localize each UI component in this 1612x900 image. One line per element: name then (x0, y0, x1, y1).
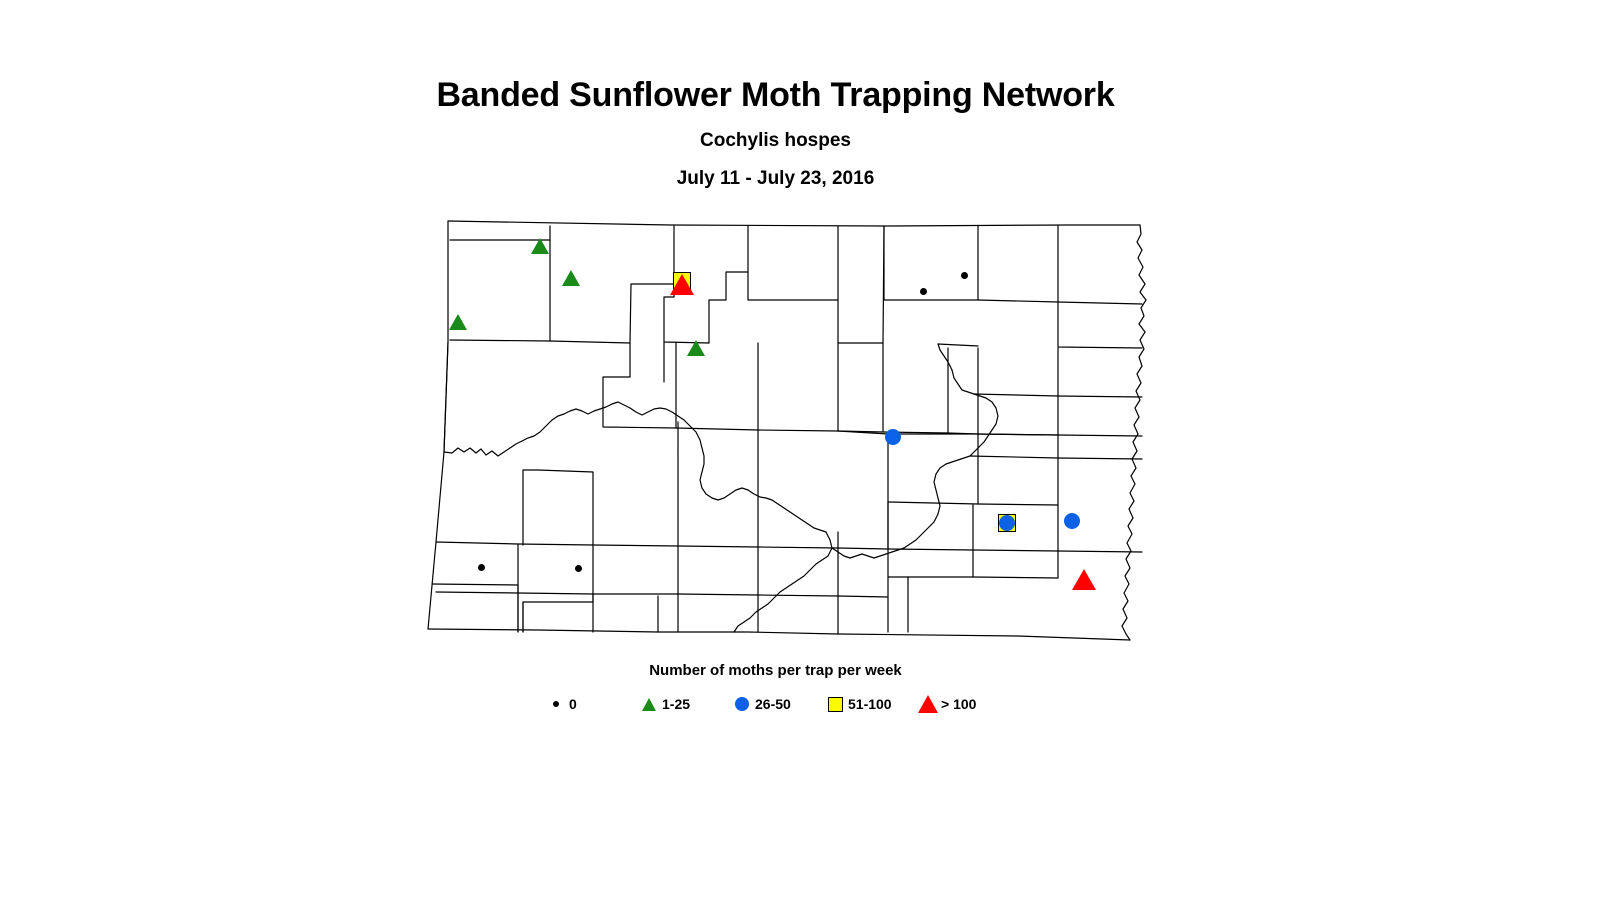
county-boundaries (418, 212, 1158, 657)
trap-marker-blue-circle[interactable] (999, 515, 1015, 531)
north-dakota-map (418, 212, 1158, 657)
trap-marker-red-triangle[interactable] (1072, 569, 1096, 590)
page-title: Banded Sunflower Moth Trapping Network (0, 0, 1551, 114)
title-block: Banded Sunflower Moth Trapping Network C… (0, 0, 1551, 190)
date-range: July 11 - July 23, 2016 (0, 152, 1551, 190)
red-triangle-icon (670, 274, 694, 295)
legend-item-26-50[interactable]: 26-50 (729, 696, 822, 712)
green-triangle-icon (449, 314, 467, 330)
blue-circle-icon (729, 697, 755, 711)
legend-label: 0 (569, 696, 577, 712)
black-dot-icon (543, 701, 569, 707)
map-legend: Number of moths per trap per week 0 1-25… (0, 662, 1551, 713)
trap-marker-red-triangle[interactable] (670, 274, 694, 295)
map-page: Banded Sunflower Moth Trapping Network C… (0, 0, 1612, 900)
black-dot-icon (478, 564, 485, 571)
green-triangle-icon (562, 270, 580, 286)
green-triangle-icon (636, 698, 662, 711)
blue-circle-icon (1064, 513, 1080, 529)
black-dot-icon (961, 272, 968, 279)
trap-marker-green-triangle[interactable] (449, 314, 467, 330)
legend-title: Number of moths per trap per week (0, 662, 1551, 679)
trap-marker-green-triangle[interactable] (687, 340, 705, 356)
legend-label: 51-100 (848, 696, 892, 712)
trap-marker-zero-dot[interactable] (478, 564, 485, 571)
trap-marker-green-triangle[interactable] (562, 270, 580, 286)
trap-marker-green-triangle[interactable] (531, 238, 549, 254)
trap-marker-zero-dot[interactable] (575, 565, 582, 572)
legend-label: 26-50 (755, 696, 791, 712)
black-dot-icon (575, 565, 582, 572)
yellow-square-icon (822, 697, 848, 712)
trap-marker-zero-dot[interactable] (920, 288, 927, 295)
black-dot-icon (920, 288, 927, 295)
species-name: Cochylis hospes (0, 114, 1551, 152)
legend-item-over-100[interactable]: > 100 (915, 695, 1008, 713)
blue-circle-icon (885, 429, 901, 445)
green-triangle-icon (531, 238, 549, 254)
blue-circle-icon (999, 515, 1015, 531)
legend-item-zero[interactable]: 0 (543, 696, 636, 712)
legend-items: 0 1-25 26-50 51-100 (0, 679, 1551, 713)
red-triangle-icon (1072, 569, 1096, 590)
legend-label: > 100 (941, 696, 976, 712)
legend-item-1-25[interactable]: 1-25 (636, 696, 729, 712)
trap-marker-blue-circle[interactable] (1064, 513, 1080, 529)
red-triangle-icon (915, 695, 941, 713)
trap-marker-zero-dot[interactable] (961, 272, 968, 279)
legend-label: 1-25 (662, 696, 690, 712)
green-triangle-icon (687, 340, 705, 356)
trap-marker-blue-circle[interactable] (885, 429, 901, 445)
legend-item-51-100[interactable]: 51-100 (822, 696, 915, 712)
